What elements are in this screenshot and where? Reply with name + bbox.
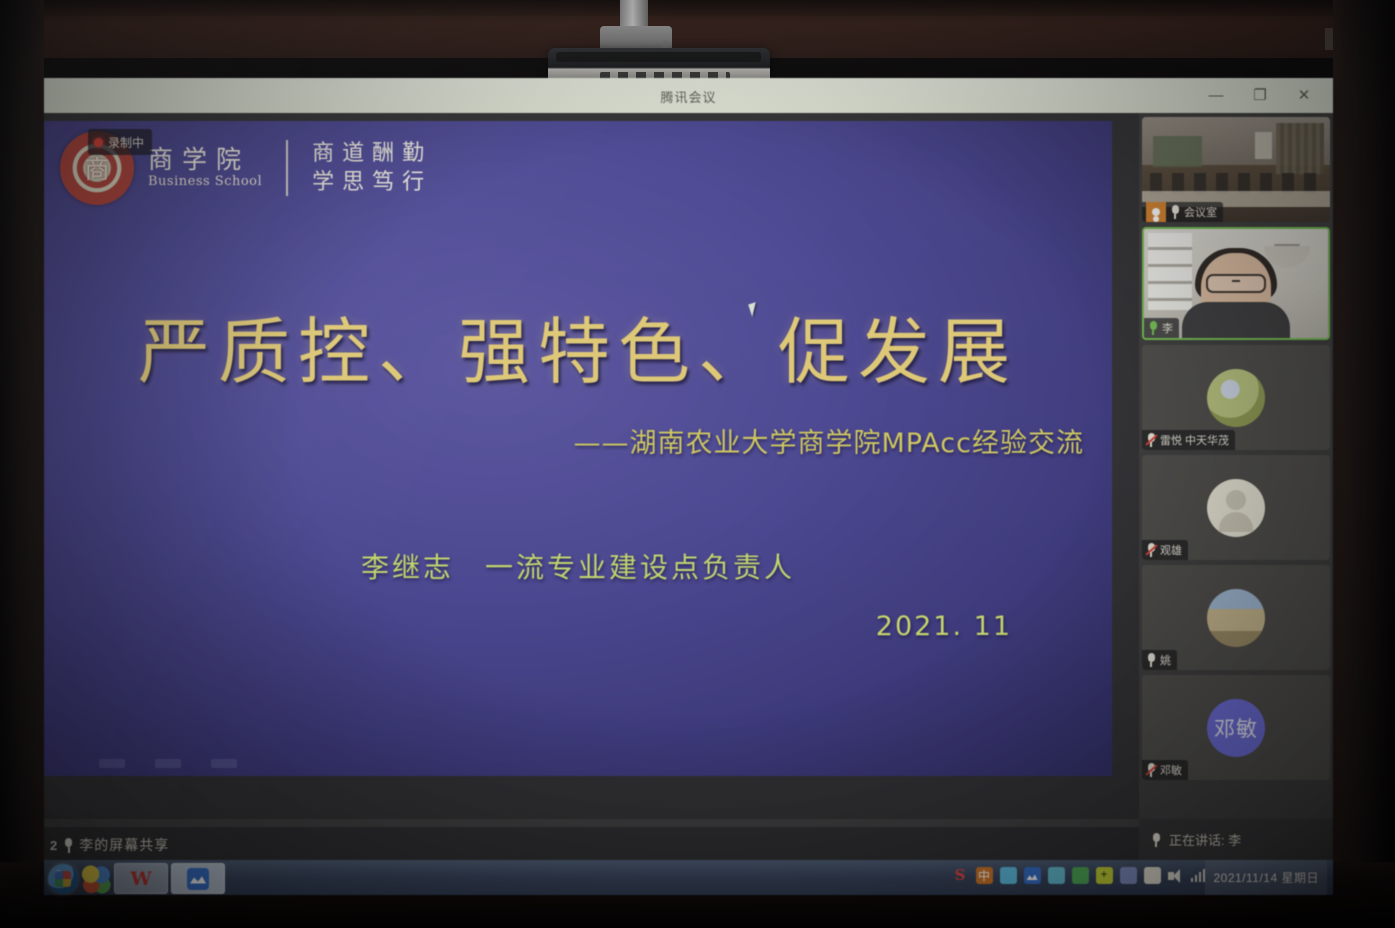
slide-title: 严质控、强特色、促发展 [44,316,1112,388]
avatar [1207,479,1265,537]
windows-taskbar[interactable]: W S 中 + [44,860,1333,895]
clock-date: 2021/11/14 星期日 [1213,869,1319,886]
participant-name: 姚 [1160,652,1171,668]
slide-subtitle: ——湖南农业大学商学院MPAcc经验交流 [573,421,1084,460]
tile-namebar: 李 [1144,318,1179,338]
wall-right [1333,0,1395,928]
participant-tile-dengmin[interactable]: 邓敏 邓敏 [1142,675,1330,780]
shared-screen-area[interactable]: 商 商学院 Business School 商道酬勤 学思笃行 [44,113,1139,819]
taskbar-left-group: W [48,863,225,894]
tile-namebar: 雷悦 中天华茂 [1142,430,1235,450]
meeting-tray-icon[interactable] [1024,867,1041,884]
school-motto: 商道酬勤 学思笃行 [312,141,432,195]
participant-name: 邓敏 [1160,762,1182,778]
meeting-app-icon [187,868,209,890]
participant-tile-guanxiong[interactable]: 观雄 [1142,455,1330,560]
share-count: 2 [50,838,58,853]
share-status-bar [44,827,1139,860]
speaking-label: 正在讲话: 李 [1169,830,1241,849]
participant-name: 雷悦 中天华茂 [1160,432,1229,448]
slide-footer-marks [99,759,237,768]
room-door [1255,132,1272,159]
host-badge-icon [1146,202,1166,222]
participant-name: 观雄 [1160,542,1182,558]
footer-mark [211,759,237,768]
recording-indicator: 录制中 [88,129,152,155]
logo-divider [286,140,288,196]
microphone-muted-icon [1146,763,1156,777]
shield-guard-icon[interactable] [1048,867,1065,884]
tile-namebar: 邓敏 [1142,760,1188,780]
microphone-icon [63,838,74,853]
taskbar-item-wps[interactable]: W [114,863,168,894]
share-label: 李的屏幕共享 [79,835,169,855]
restore-button[interactable]: ❐ [1239,80,1281,110]
eyeglasses [1206,274,1266,293]
minimize-button[interactable]: — [1195,80,1237,110]
footer-mark [99,759,125,768]
microphone-icon [1148,321,1158,335]
school-name-en: Business School [148,174,262,189]
background-window [1148,233,1192,309]
motto-line-2: 学思笃行 [312,170,432,195]
cloud-sync-icon[interactable] [1000,867,1017,884]
ceiling-shadow [0,0,1395,16]
recording-label: 录制中 [108,134,144,151]
start-orb-icon[interactable] [48,864,78,894]
tile-namebar: 观雄 [1142,540,1188,560]
projection-screen: 腾讯会议 — ❐ ✕ 商 商学院 Business School [44,78,1333,860]
room-curtain [1276,123,1325,173]
taskbar-clock[interactable]: 2021/11/14 星期日 [1205,860,1327,895]
window-titlebar: 腾讯会议 — ❐ ✕ [44,78,1333,114]
participant-tile-yao[interactable]: 姚 [1142,565,1330,670]
system-tray[interactable]: S 中 + [952,867,1206,884]
antivirus-icon[interactable] [1072,867,1089,884]
settings-tool-icon[interactable] [1144,867,1161,884]
slide-presenter: 李继志 一流专业建设点负责人 [44,546,1112,586]
microphone-icon [1151,833,1161,847]
school-brand: 商学院 Business School [148,147,262,189]
presentation-slide: 商 商学院 Business School 商道酬勤 学思笃行 [44,121,1112,776]
microphone-muted-icon [1146,433,1156,447]
footer-mark [155,759,181,768]
sogou-input-icon[interactable]: S [952,867,969,884]
network-signal-icon[interactable] [1191,869,1206,882]
taskbar-item-meeting[interactable] [171,863,225,894]
close-button[interactable]: ✕ [1283,80,1325,110]
room-board [1153,136,1202,168]
room-photo: 腾讯会议 — ❐ ✕ 商 商学院 Business School [0,0,1395,928]
share-label-group: 2 李的屏幕共享 [50,835,169,855]
window-controls: — ❐ ✕ [1195,80,1325,110]
volume-icon[interactable] [1168,869,1184,883]
messenger-icon[interactable] [81,864,111,894]
grid-app-icon[interactable] [1120,867,1137,884]
recording-dot-icon [94,138,103,147]
meeting-app-body: 商 商学院 Business School 商道酬勤 学思笃行 [44,113,1333,860]
participant-tile-meeting-room[interactable]: 会议室 [1142,117,1330,222]
microphone-icon [1170,205,1180,219]
avatar-initials: 邓敏 [1207,699,1265,757]
plus-tool-icon[interactable]: + [1096,867,1113,884]
window-title: 腾讯会议 [660,87,716,106]
slide-date: 2021. 11 [876,611,1012,642]
school-name-cn: 商学院 [148,147,262,173]
avatar [1207,589,1265,647]
wall-left [0,0,44,928]
speaking-status: 正在讲话: 李 [1139,819,1333,860]
microphone-icon [1146,653,1156,667]
participant-tile-li[interactable]: 李 [1142,227,1330,340]
participant-name: 会议室 [1184,204,1217,220]
ime-chinese-icon[interactable]: 中 [976,867,993,884]
tile-namebar: 姚 [1142,650,1177,670]
avatar [1207,369,1265,427]
participant-name: 李 [1162,320,1173,336]
microphone-muted-icon [1146,543,1156,557]
motto-line-1: 商道酬勤 [312,141,432,166]
tile-namebar: 会议室 [1142,202,1223,222]
participant-rail[interactable]: 会议室 李 [1139,113,1333,819]
person-body [1182,302,1290,338]
wps-icon: W [130,868,151,890]
participant-tile-leiyue[interactable]: 雷悦 中天华茂 [1142,345,1330,450]
